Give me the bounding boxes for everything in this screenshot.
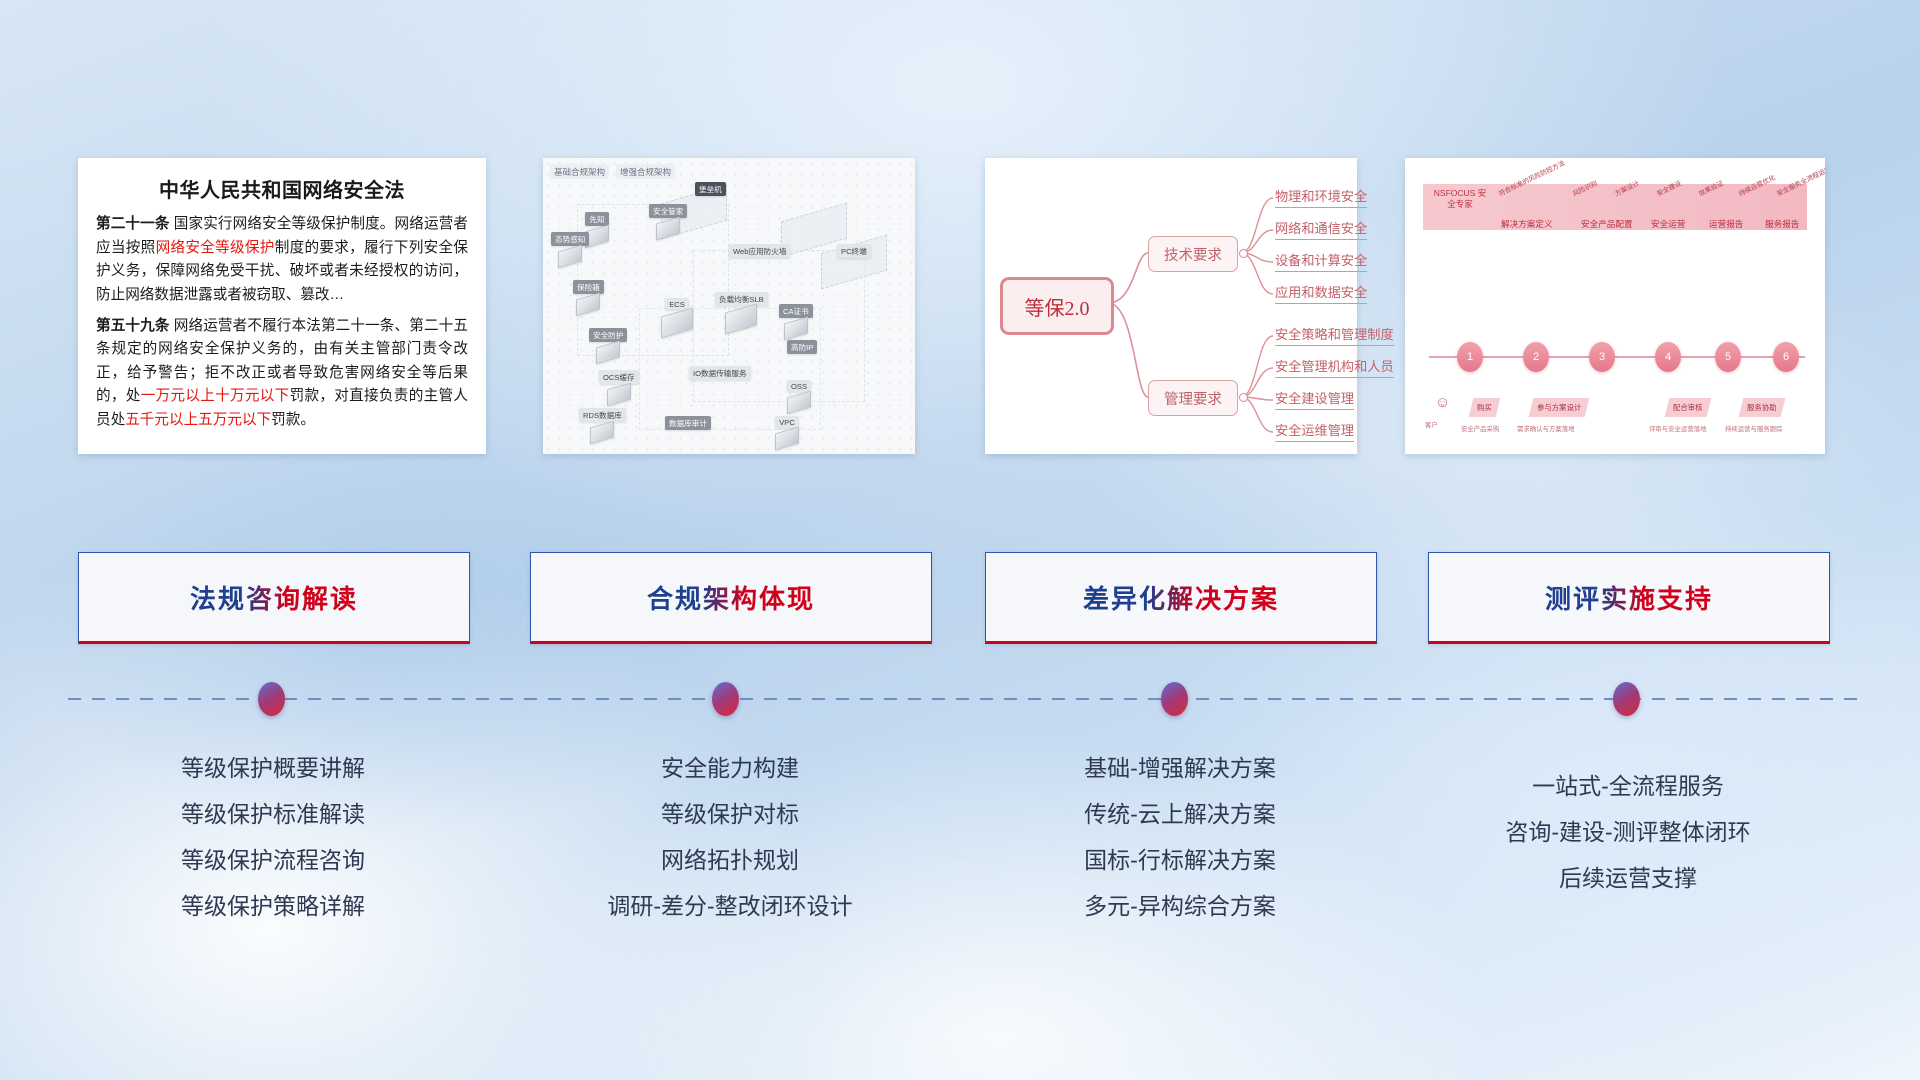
diagram-node-pc: PC终端 [837, 244, 871, 258]
mindmap-card: 等保2.0 技术要求 管理要求 物理和环境安全 网络和通信安全 设备和计算安全 … [985, 158, 1357, 454]
diagram-node-antiddos: 高防IP [787, 340, 817, 354]
law-card-title: 中华人民共和国网络安全法 [96, 174, 468, 203]
roadmap-axis [1429, 356, 1805, 358]
diagram-tabs: 基础合规架构 增强合规架构 [550, 164, 675, 179]
diagram-node-transfer: IO数据传输服务 [689, 366, 751, 380]
mindmap-leaf-application: 应用和数据安全 [1275, 282, 1367, 304]
roadmap-stage-3: 运营报告 [1709, 218, 1743, 230]
cube-icon [596, 341, 620, 365]
list-item: 一站式-全流程服务 [1428, 763, 1828, 809]
cube-icon [656, 217, 680, 241]
list-item: 等级保护对标 [530, 791, 930, 837]
roadmap-logo: NSFOCUS 安全专家 [1431, 188, 1489, 209]
law-seg-2-1: 一万元以上十万元以下 [141, 388, 290, 404]
roadmap-step-2[interactable]: 2 [1523, 342, 1549, 372]
diagram-node-label: OSS [787, 380, 811, 392]
cube-icon [661, 307, 693, 338]
customer-icon: ☺ [1435, 394, 1450, 411]
list-item: 国标-行标解决方案 [985, 837, 1375, 883]
list-item: 等级保护流程咨询 [78, 837, 468, 883]
list-item: 等级保护概要讲解 [78, 745, 468, 791]
law-article-label-2: 第五十九条 [96, 318, 170, 334]
roadmap-chip-3: 服务协助 [1739, 398, 1785, 417]
diagram-node-oss: OSS [787, 380, 811, 411]
category-box-regulation[interactable]: 法规咨询解读 [78, 552, 470, 644]
diagram-node-label: 负载均衡SLB [715, 292, 768, 306]
law-seg-2-4: 罚款。 [271, 412, 315, 428]
list-item: 基础-增强解决方案 [985, 745, 1375, 791]
cube-icon [590, 421, 614, 445]
cube-icon [558, 245, 582, 269]
diagram-tab-1[interactable]: 增强合规架构 [616, 164, 675, 179]
diagram-node-label: ECS [665, 298, 689, 310]
mindmap-collapse-dot[interactable] [1239, 393, 1248, 402]
cube-icon [784, 317, 808, 341]
roadmap-chip-title: 服务协助 [1747, 402, 1777, 413]
roadmap-role-label: 客户 [1425, 420, 1438, 429]
timeline-dot-4[interactable] [1613, 682, 1640, 716]
list-item: 安全能力构建 [530, 745, 930, 791]
diagram-node-label: 先知 [585, 212, 608, 226]
timeline-axis [68, 698, 1858, 700]
cube-icon [725, 303, 757, 334]
mindmap-leaf-physical: 物理和环境安全 [1275, 186, 1367, 208]
law-seg-1-1: 网络安全等级保护 [156, 240, 275, 256]
diagram-node-label: RDS数据库 [579, 408, 626, 422]
roadmap-chip-1: 参与方案设计 [1529, 398, 1590, 417]
diagram-node-manager: 安全管家 [649, 204, 687, 237]
diagram-node-label: PC终端 [837, 244, 871, 258]
category-label: 法规咨询解读 [190, 579, 358, 616]
diagram-node-ecs: ECS [661, 298, 693, 334]
roadmap-chip-sub-2: 评审与安全运营落地 [1649, 424, 1707, 433]
list-item: 网络拓扑规划 [530, 837, 930, 883]
roadmap-card: NSFOCUS 安全专家 符合标准的风险防控方法 风险识别 方案设计 安全建设 … [1405, 158, 1825, 454]
roadmap-stage-2: 安全运营 [1651, 218, 1685, 230]
mindmap-leaf-policy: 安全策略和管理制度 [1275, 324, 1394, 346]
mindmap-leaf-construction: 安全建设管理 [1275, 388, 1354, 410]
diagram-node-label: VPC [775, 416, 799, 428]
list-item: 咨询-建设-测评整体闭环 [1428, 809, 1828, 855]
diagram-node-ocs: OCS缓存 [599, 370, 639, 403]
roadmap-chip-sub-0: 安全产品采购 [1461, 424, 1499, 433]
diagram-sheet: 基础合规架构 增强合规架构 堡垒机 安全管家 先知 态势感知 [543, 158, 915, 454]
roadmap-stage-4: 服务报告 [1765, 218, 1799, 230]
diagram-node-dbaudit: 数据库审计 [665, 416, 711, 430]
timeline-dot-2[interactable] [712, 682, 739, 716]
law-paragraph-1: 第二十一条 国家实行网络安全等级保护制度。网络运营者应当按照网络安全等级保护制度… [96, 213, 468, 308]
mindmap-leaf-device: 设备和计算安全 [1275, 250, 1367, 272]
law-text-card: 中华人民共和国网络安全法 第二十一条 国家实行网络安全等级保护制度。网络运营者应… [78, 158, 486, 454]
list-item: 后续运营支撑 [1428, 855, 1828, 901]
roadmap-chip-title: 参与方案设计 [1537, 402, 1581, 413]
diagram-node-label: Web应用防火墙 [729, 244, 790, 258]
list-item: 调研-差分-整改闭环设计 [530, 883, 930, 929]
category-label: 测评实施支持 [1545, 579, 1713, 616]
mindmap-branch-management: 管理要求 [1148, 380, 1238, 416]
roadmap-chip-2: 配合审核 [1665, 398, 1711, 417]
diagram-node-guard: 安全防护 [589, 328, 627, 361]
diagram-node-bastion: 堡垒机 [695, 182, 726, 196]
mindmap-branch-technical: 技术要求 [1148, 236, 1238, 272]
list-item: 等级保护标准解读 [78, 791, 468, 837]
roadmap-step-5[interactable]: 5 [1715, 342, 1741, 372]
cube-icon [607, 383, 631, 407]
roadmap-chip-title: 购买 [1477, 402, 1492, 413]
law-seg-2-3: 五千元以上五万元以下 [125, 412, 271, 428]
diagram-node-slb: 负载均衡SLB [715, 292, 768, 330]
mindmap-leaf-org: 安全管理机构和人员 [1275, 356, 1394, 378]
mindmap-leaf-network: 网络和通信安全 [1275, 218, 1367, 240]
roadmap-step-4[interactable]: 4 [1655, 342, 1681, 372]
category-label: 差异化解决方案 [1083, 579, 1279, 616]
category-box-architecture[interactable]: 合规架构体现 [530, 552, 932, 644]
diagram-node-waf: Web应用防火墙 [729, 244, 790, 258]
list-item: 等级保护策略详解 [78, 883, 468, 929]
mindmap-leaf-operation: 安全运维管理 [1275, 420, 1354, 442]
mindmap-root-node: 等保2.0 [1000, 277, 1114, 335]
bullet-column-4: 一站式-全流程服务 咨询-建设-测评整体闭环 后续运营支撑 [1428, 763, 1828, 901]
category-label: 合规架构体现 [647, 579, 815, 616]
mindmap-collapse-dot[interactable] [1239, 249, 1248, 258]
diagram-node-label: IO数据传输服务 [689, 366, 751, 380]
roadmap-chip-title: 配合审核 [1673, 402, 1703, 413]
diagram-node-situation: 态势感知 [551, 232, 589, 265]
category-box-assessment[interactable]: 测评实施支持 [1428, 552, 1830, 644]
bullet-column-1: 等级保护概要讲解 等级保护标准解读 等级保护流程咨询 等级保护策略详解 [78, 745, 468, 929]
content-layer: 中华人民共和国网络安全法 第二十一条 国家实行网络安全等级保护制度。网络运营者应… [0, 0, 1920, 1080]
roadmap-stage-1: 安全产品配置 [1581, 218, 1633, 230]
roadmap-step-1[interactable]: 1 [1457, 342, 1483, 372]
timeline-dot-3[interactable] [1161, 682, 1188, 716]
diagram-node-rds: RDS数据库 [579, 408, 626, 441]
cube-icon [576, 293, 600, 317]
roadmap-stage-0: 解决方案定义 [1501, 218, 1553, 230]
diagram-node-label: OCS缓存 [599, 370, 639, 384]
list-item: 传统-云上解决方案 [985, 791, 1375, 837]
category-box-solution[interactable]: 差异化解决方案 [985, 552, 1377, 644]
diagram-node-label: 安全管家 [649, 204, 687, 218]
roadmap-step-6[interactable]: 6 [1773, 342, 1799, 372]
roadmap-chip-sub-1: 需求确认与方案落地 [1517, 424, 1575, 433]
list-item: 多元-异构综合方案 [985, 883, 1375, 929]
diagram-tab-0[interactable]: 基础合规架构 [550, 164, 609, 179]
roadmap-chip-sub-3: 持续运营与服务跟踪 [1725, 424, 1783, 433]
bullet-column-3: 基础-增强解决方案 传统-云上解决方案 国标-行标解决方案 多元-异构综合方案 [985, 745, 1375, 929]
roadmap-chip-0: 购买 [1469, 398, 1501, 417]
cube-icon [775, 427, 799, 451]
diagram-node-safebox: 保险箱 [573, 280, 604, 313]
law-article-label-1: 第二十一条 [96, 216, 170, 232]
architecture-diagram-card: 基础合规架构 增强合规架构 堡垒机 安全管家 先知 态势感知 [543, 158, 915, 454]
bullet-column-2: 安全能力构建 等级保护对标 网络拓扑规划 调研-差分-整改闭环设计 [530, 745, 930, 929]
diagram-node-label: 堡垒机 [695, 182, 726, 196]
law-paragraph-2: 第五十九条 网络运营者不履行本法第二十一条、第二十五条规定的网络安全保护义务的，… [96, 315, 468, 433]
roadmap-step-3[interactable]: 3 [1589, 342, 1615, 372]
diagram-node-label: 高防IP [787, 340, 817, 354]
timeline-dot-1[interactable] [258, 682, 285, 716]
cube-icon [787, 391, 811, 415]
diagram-node-ca: CA证书 [779, 304, 813, 337]
diagram-node-label: 数据库审计 [665, 416, 711, 430]
diagram-node-label: 安全防护 [589, 328, 627, 342]
diagram-node-label: 态势感知 [551, 232, 589, 246]
diagram-node-vpc: VPC [775, 416, 799, 447]
